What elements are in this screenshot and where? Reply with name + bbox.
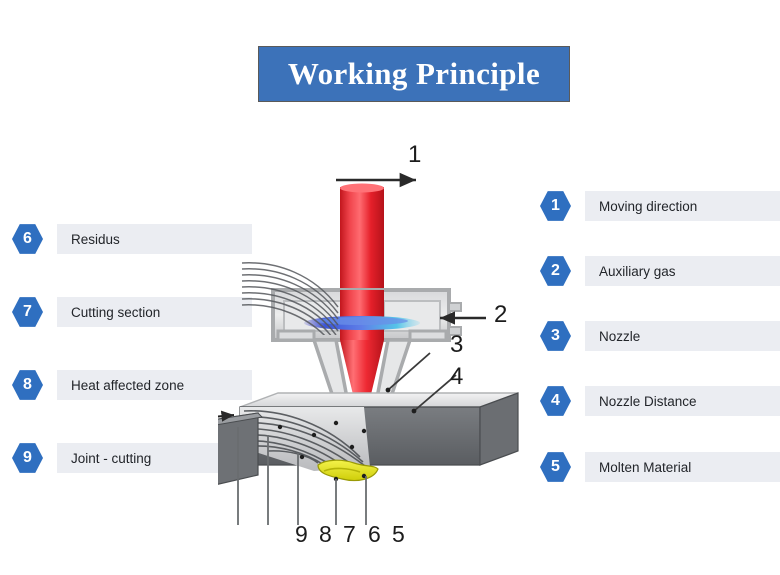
legend-label-6: Residus xyxy=(57,232,120,247)
legend-item-4[interactable]: 4 Nozzle Distance xyxy=(540,385,780,417)
legend-badge-8: 8 xyxy=(12,370,43,401)
bottom-callout-7: 7 xyxy=(343,521,356,548)
legend-label-8: Heat affected zone xyxy=(57,378,184,393)
legend-bar-4: Nozzle Distance xyxy=(585,386,780,416)
callout-3: 3 xyxy=(450,331,463,359)
legend-item-1[interactable]: 1 Moving direction xyxy=(540,190,780,222)
laser-cutting-illustration: 1 2 3 4 9 8 7 6 5 xyxy=(218,135,538,545)
page-title: Working Principle xyxy=(288,56,540,92)
legend-item-9[interactable]: 9 Joint - cutting xyxy=(12,442,252,474)
legend-label-2: Auxiliary gas xyxy=(585,264,676,279)
legend-label-4: Nozzle Distance xyxy=(585,394,697,409)
diagram-canvas: Working Principle 1 Moving direction 2 A… xyxy=(0,0,780,575)
legend-item-3[interactable]: 3 Nozzle xyxy=(540,320,780,352)
legend-badge-2: 2 xyxy=(540,256,571,287)
legend-badge-3: 3 xyxy=(540,321,571,352)
legend-label-9: Joint - cutting xyxy=(57,451,151,466)
legend-label-3: Nozzle xyxy=(585,329,640,344)
legend-bar-2: Auxiliary gas xyxy=(585,256,780,286)
callout-4: 4 xyxy=(450,363,463,391)
page-title-banner: Working Principle xyxy=(258,46,570,102)
legend-label-1: Moving direction xyxy=(585,199,697,214)
legend-label-5: Molten Material xyxy=(585,460,691,475)
legend-item-6[interactable]: 6 Residus xyxy=(12,223,252,255)
bottom-callout-5: 5 xyxy=(392,521,405,548)
legend-badge-1: 1 xyxy=(540,191,571,222)
legend-label-7: Cutting section xyxy=(57,305,160,320)
legend-item-5[interactable]: 5 Molten Material xyxy=(540,451,780,483)
callout-3-anchor xyxy=(386,388,391,393)
legend-badge-7: 7 xyxy=(12,297,43,328)
legend-bar-5: Molten Material xyxy=(585,452,780,482)
legend-badge-4: 4 xyxy=(540,386,571,417)
bottom-callout-8: 8 xyxy=(319,521,332,548)
callout-2: 2 xyxy=(494,301,507,329)
beam-top-cap xyxy=(340,184,384,193)
callout-1: 1 xyxy=(408,141,421,169)
legend-item-2[interactable]: 2 Auxiliary gas xyxy=(540,255,780,287)
legend-badge-9: 9 xyxy=(12,443,43,474)
workpiece-top-face xyxy=(240,393,518,407)
beam-in-housing xyxy=(340,290,384,340)
bottom-callout-9: 9 xyxy=(295,521,308,548)
legend-item-8[interactable]: 8 Heat affected zone xyxy=(12,369,252,401)
legend-bar-3: Nozzle xyxy=(585,321,780,351)
legend-badge-5: 5 xyxy=(540,452,571,483)
separated-piece xyxy=(218,413,262,487)
legend-bar-1: Moving direction xyxy=(585,191,780,221)
callout-4-anchor xyxy=(412,409,417,414)
laser-beam-column xyxy=(340,187,384,299)
legend-badge-6: 6 xyxy=(12,224,43,255)
bottom-callout-6: 6 xyxy=(368,521,381,548)
legend-item-7[interactable]: 7 Cutting section xyxy=(12,296,252,328)
